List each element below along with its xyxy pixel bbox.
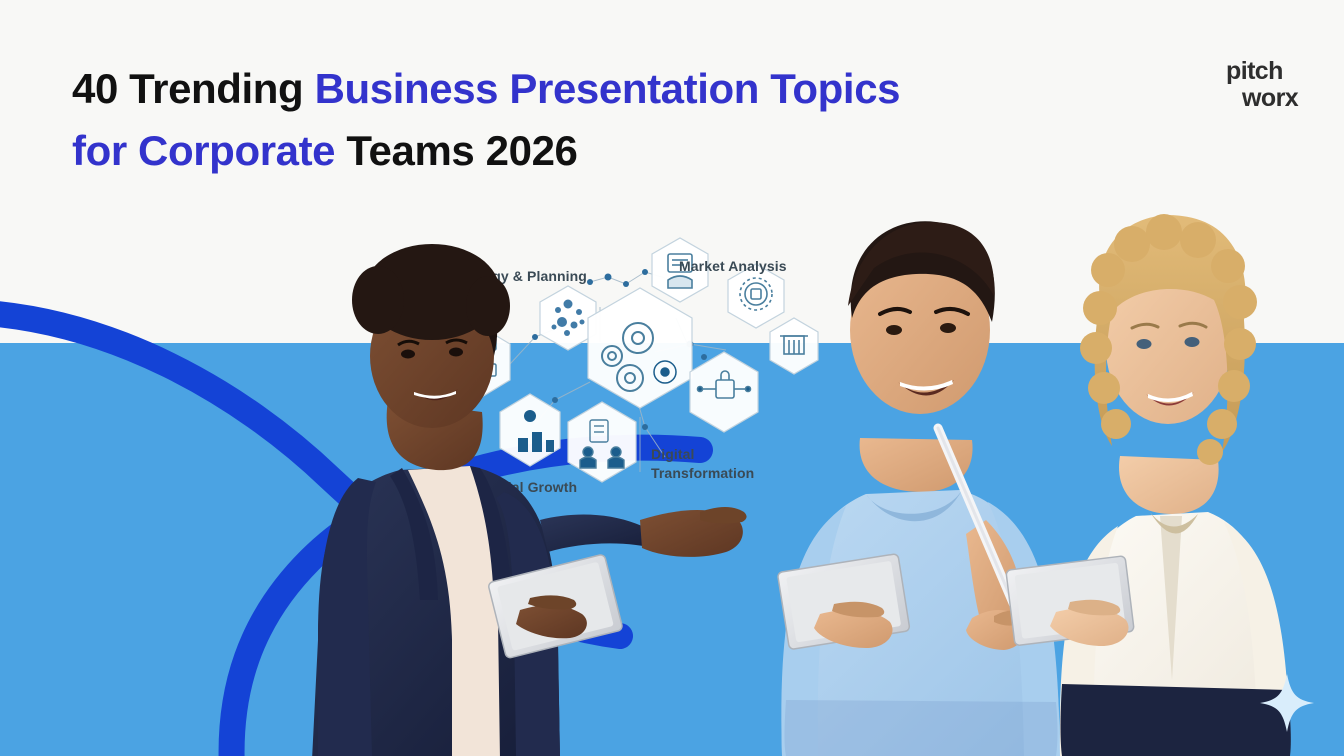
logo-line-worx: worx	[1242, 85, 1298, 112]
logo-line-pitch: pitch	[1226, 58, 1298, 85]
title-line-1: 40 Trending Business Presentation Topics	[72, 58, 1032, 120]
brand-logo[interactable]: pitch worx	[1226, 58, 1298, 112]
title-line2-accent: for Corporate	[72, 127, 346, 174]
infographic-label-strategy: Strategy & Planning	[452, 268, 587, 284]
title-line1-accent: Business Presentation Topics	[315, 65, 901, 112]
infographic-label-financial: Financial Growth	[462, 479, 577, 495]
background-blue-band	[0, 343, 1344, 756]
page-title: 40 Trending Business Presentation Topics…	[72, 58, 1032, 182]
title-line2-plain: Teams 2026	[346, 127, 577, 174]
title-line-2: for Corporate Teams 2026	[72, 120, 1032, 182]
infographic-label-market: Market Analysis	[679, 258, 787, 274]
title-line1-plain: 40 Trending	[72, 65, 315, 112]
banner-root: Strategy & Planning Market Analysis Fina…	[0, 0, 1344, 756]
infographic-label-digital: Digital Transformation	[651, 445, 781, 483]
